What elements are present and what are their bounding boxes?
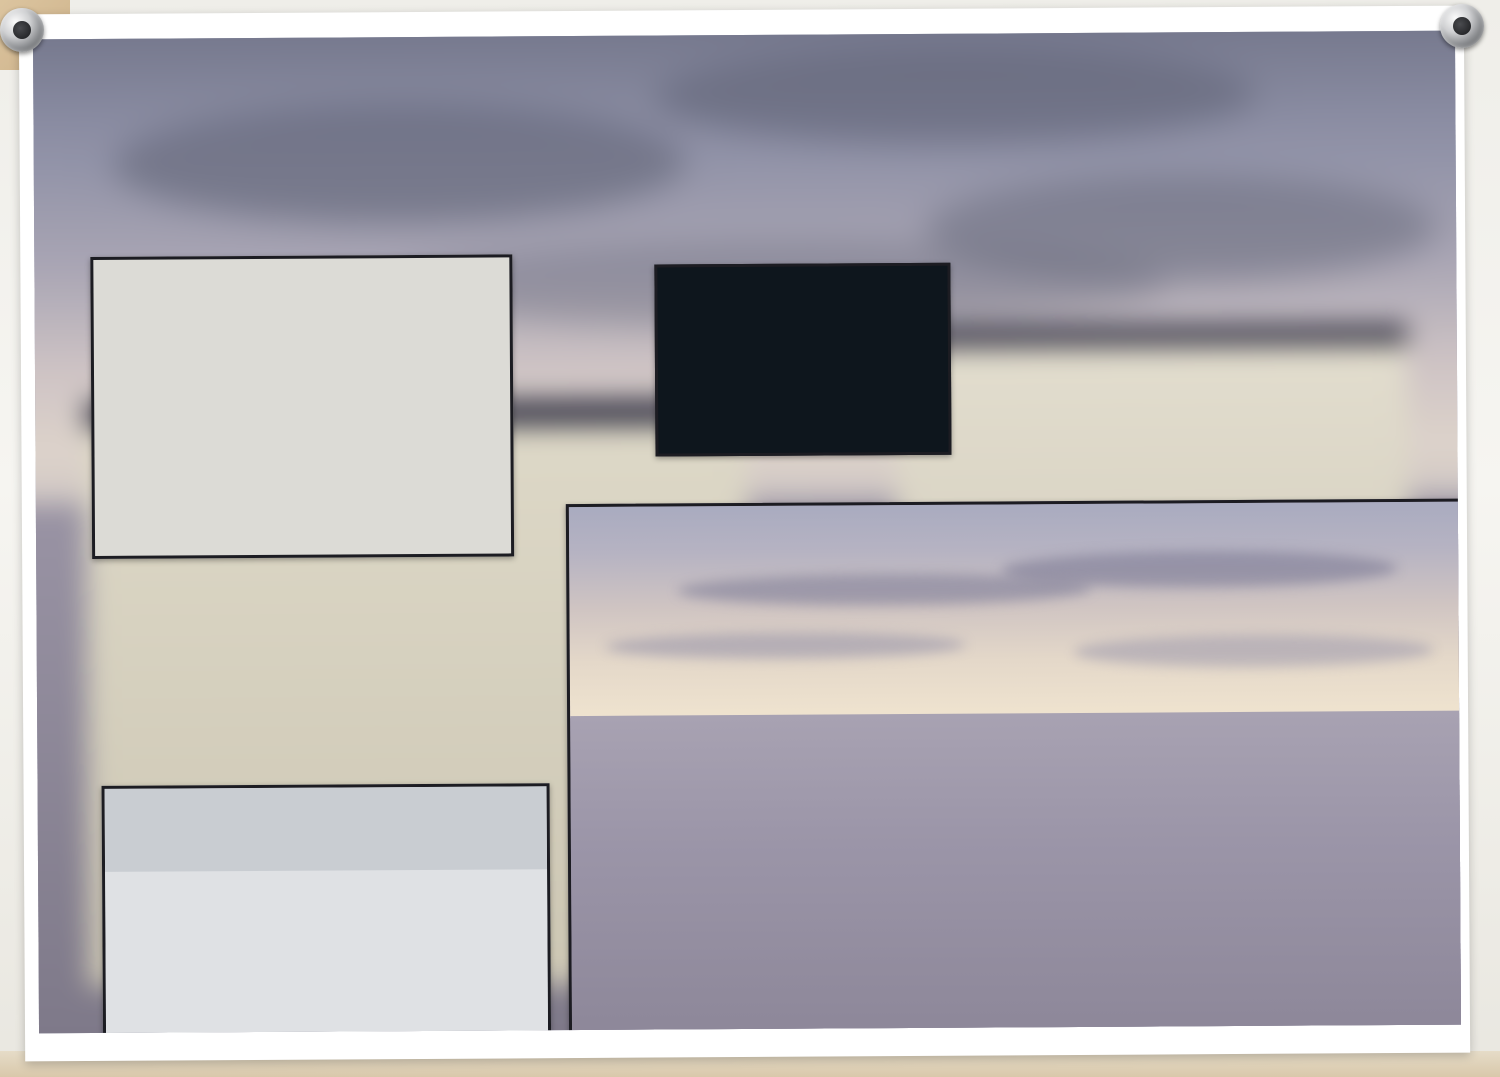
sketchup-ground [105, 869, 548, 1033]
sketch-artwork [93, 257, 509, 260]
model-photo-panel[interactable] [654, 263, 951, 457]
pushpin-top-left[interactable] [0, 8, 44, 52]
render-panel[interactable] [566, 499, 1461, 1034]
render-sky [569, 502, 1461, 719]
render-ground [570, 711, 1461, 1034]
sketch-panel[interactable] [90, 254, 514, 559]
model-photo-background [657, 266, 948, 454]
poster-print-area [33, 31, 1461, 1034]
poster-sheet [19, 6, 1470, 1062]
sketchup-sky [105, 786, 548, 873]
sketchup-panel[interactable] [102, 783, 552, 1033]
pushpin-top-right[interactable] [1440, 4, 1484, 48]
